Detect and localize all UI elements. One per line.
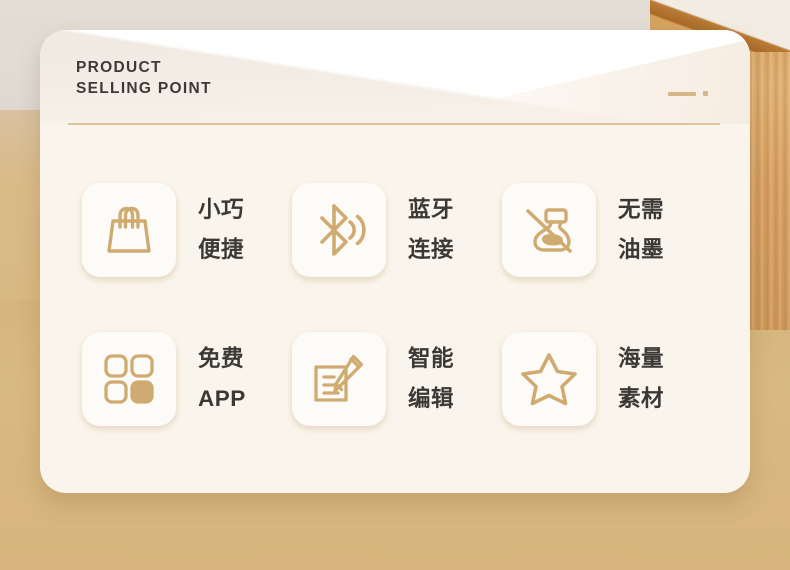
feature-item[interactable]: 蓝牙 连接 [292,155,502,304]
feature-icon-tile [82,183,176,277]
feature-label: 蓝牙 连接 [408,190,454,270]
feature-grid: 小巧 便捷 蓝牙 [82,155,712,453]
feature-label-line-1: 无需 [618,190,664,230]
feature-item[interactable]: 无需 油墨 [502,155,712,304]
feature-label: 智能 编辑 [408,339,454,419]
feature-label: 小巧 便捷 [198,190,244,270]
feature-label: 免费 APP [198,339,246,419]
no-ink-bottle-icon [520,201,578,259]
feature-label-line-2: 连接 [408,230,454,270]
feature-item[interactable]: 智能 编辑 [292,304,502,453]
selling-point-card: PRODUCT SELLING POINT [40,30,750,493]
app-grid-icon [102,352,156,406]
feature-label-line-2: APP [198,379,246,419]
feature-label-line-1: 海量 [618,339,664,379]
feature-icon-tile [502,183,596,277]
feature-label-line-2: 油墨 [618,230,664,270]
feature-label-line-2: 编辑 [408,379,454,419]
header-decoration [668,91,708,96]
feature-label-line-2: 素材 [618,379,664,419]
feature-item[interactable]: 海量 素材 [502,304,712,453]
star-outline-icon [520,350,578,408]
page-title-line-1: PRODUCT [76,57,212,78]
feature-label-line-1: 蓝牙 [408,190,454,230]
feature-label-line-1: 免费 [198,339,246,379]
shopping-bag-icon [101,202,157,258]
document-pencil-icon [310,350,368,408]
bluetooth-signal-icon [310,201,368,259]
feature-icon-tile [82,332,176,426]
header-divider [68,123,720,125]
product-selling-point-page: PRODUCT SELLING POINT [0,0,790,570]
feature-item[interactable]: 小巧 便捷 [82,155,292,304]
page-title-line-2: SELLING POINT [76,78,212,99]
feature-icon-tile [292,183,386,277]
dot-mark-icon [703,91,708,96]
feature-label: 海量 素材 [618,339,664,419]
feature-label: 无需 油墨 [618,190,664,270]
feature-label-line-2: 便捷 [198,230,244,270]
feature-icon-tile [502,332,596,426]
feature-label-line-1: 智能 [408,339,454,379]
page-title: PRODUCT SELLING POINT [76,57,212,99]
feature-icon-tile [292,332,386,426]
dash-mark-icon [668,92,696,96]
feature-label-line-1: 小巧 [198,190,244,230]
feature-item[interactable]: 免费 APP [82,304,292,453]
